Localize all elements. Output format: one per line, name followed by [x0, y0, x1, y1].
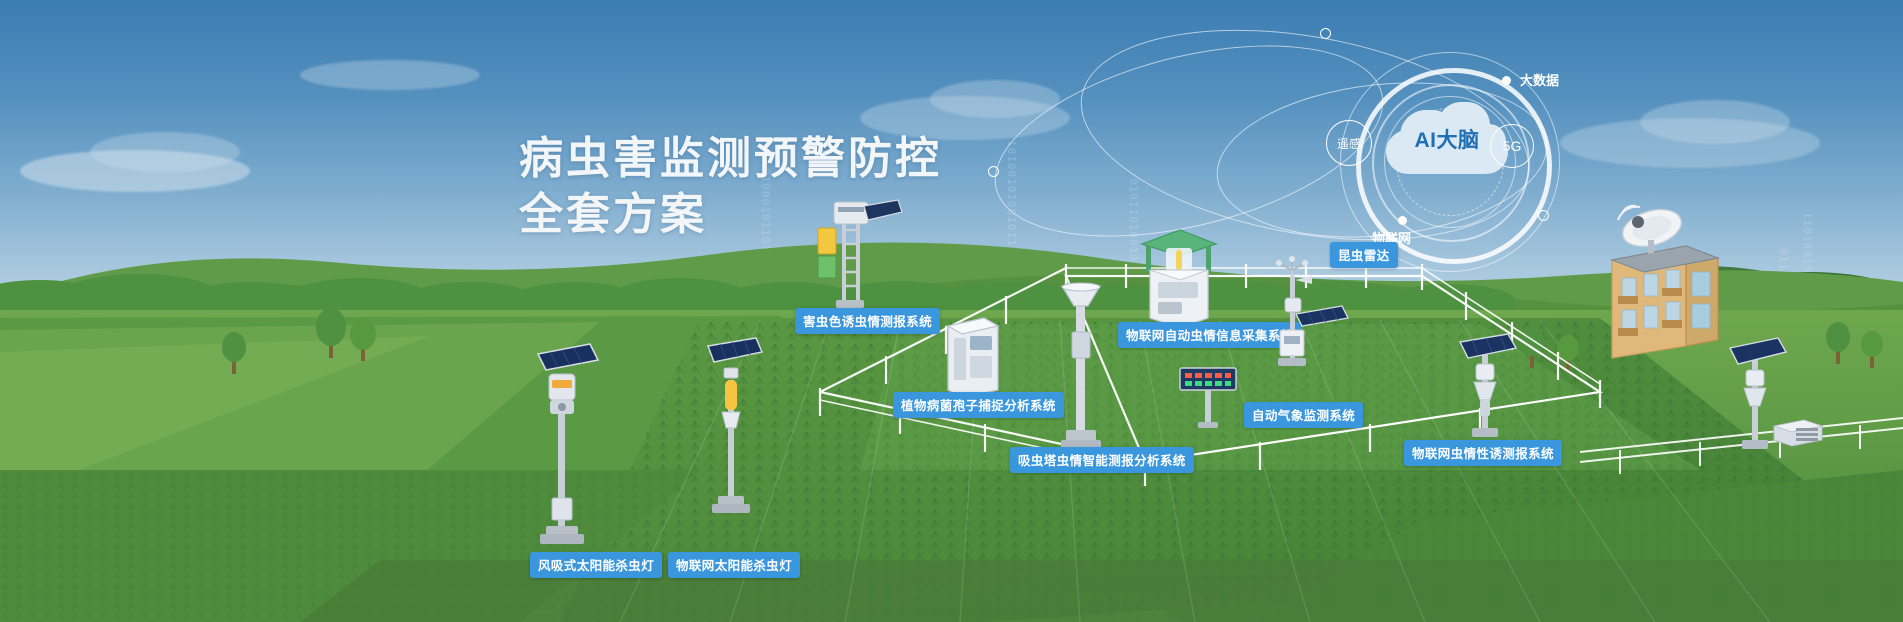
device-plant-pathogen-spore-capture-analysis-system: [944, 310, 1000, 400]
device-label-suction-tower-intelligent-pest-forecast-system[interactable]: 吸虫塔虫情智能测报分析系统: [1010, 447, 1194, 473]
pest-color-lure-graphic: [812, 200, 907, 315]
device-wind-suction-solar-insect-lamp: [528, 330, 598, 550]
iot-pest-collection-graphic: [1136, 222, 1222, 337]
ground-equipment-graphic: [1770, 412, 1828, 450]
device-automatic-weather-monitoring-system: [1262, 258, 1352, 378]
device-label-iot-solar-insect-lamp[interactable]: 物联网太阳能杀虫灯: [668, 552, 800, 578]
device-label-iot-pest-pheromone-forecast-system[interactable]: 物联网虫情性诱测报系统: [1404, 440, 1562, 466]
device-iot-solar-insect-lamp: [700, 328, 760, 528]
device-iot-automatic-pest-information-collection-system: [1136, 222, 1216, 332]
ground-equipment-box: [1770, 412, 1824, 446]
weather-station-graphic: [1262, 258, 1358, 383]
device-label-plant-pathogen-spore-capture-analysis-system[interactable]: 植物病菌孢子捕捉分析系统: [893, 392, 1064, 418]
device-suction-tower-intelligent-pest-forecast-system: [1058, 282, 1102, 452]
wind-suction-lamp-graphic: [528, 330, 608, 555]
device-iot-pest-pheromone-forecast-system: [1452, 330, 1522, 440]
ai-brain-label: AI大脑: [1386, 124, 1508, 154]
hero-banner: 01000101101101001010 1010010100101101001…: [0, 0, 1903, 622]
device-pest-color-lure-reporting-system: [812, 200, 902, 310]
device-label-insect-radar[interactable]: 昆虫雷达: [1330, 242, 1398, 268]
device-label-wind-suction-solar-insect-lamp[interactable]: 风吸式太阳能杀虫灯: [530, 552, 662, 578]
insect-radar-building: [1594, 200, 1744, 360]
led-display-board: [1178, 366, 1236, 426]
iot-solar-lamp-graphic: [700, 328, 770, 533]
led-board-graphic: [1178, 366, 1240, 430]
device-label-automatic-weather-monitoring-system[interactable]: 自动气象监测系统: [1244, 402, 1363, 428]
device-label-pest-color-lure-reporting-system[interactable]: 害虫色诱虫情测报系统: [795, 308, 940, 334]
pheromone-trap-graphic: [1452, 330, 1528, 445]
radar-building-graphic: [1594, 200, 1750, 366]
suction-tower-graphic: [1058, 282, 1108, 457]
spore-capture-graphic: [944, 310, 1006, 405]
